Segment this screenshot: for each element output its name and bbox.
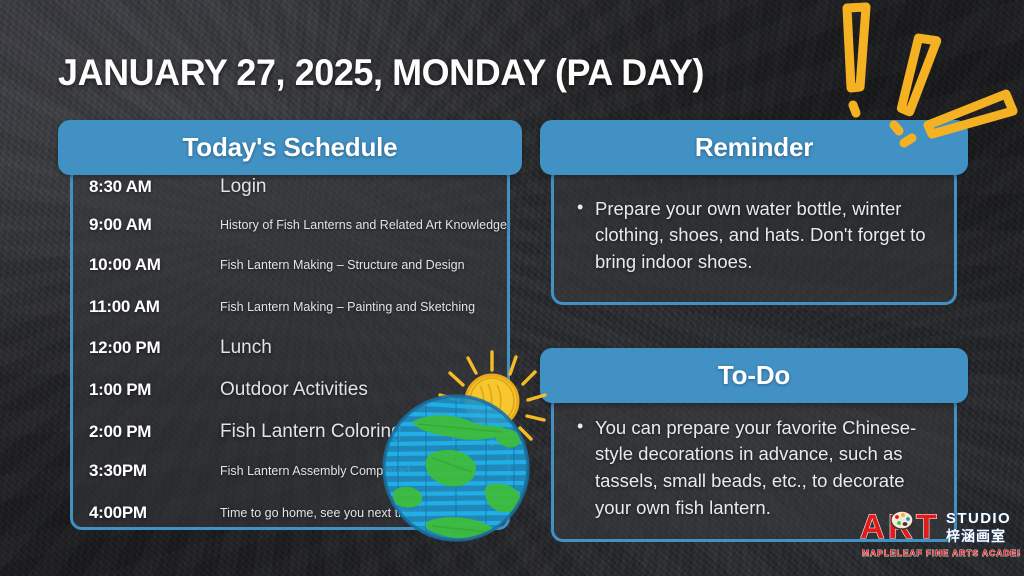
schedule-row-time: 10:00 AM xyxy=(70,255,220,275)
schedule-row-description: Fish Lantern Making – Painting and Sketc… xyxy=(220,300,510,315)
earth-and-sun-doodle xyxy=(368,338,568,560)
reminder-list: Prepare your own water bottle, winter cl… xyxy=(551,166,957,305)
schedule-row-time: 3:30PM xyxy=(70,461,220,481)
logo-letter-a: A xyxy=(860,508,885,546)
schedule-row: 10:00 AMFish Lantern Making – Structure … xyxy=(70,255,510,275)
slide-canvas: JANUARY 27, 2025, MONDAY (PA DAY) Today'… xyxy=(0,0,1024,576)
schedule-row: 8:30 AMLogin xyxy=(70,176,510,198)
logo-studio-text: STUDIO xyxy=(946,510,1011,527)
schedule-row-description: Login xyxy=(220,176,510,198)
schedule-row-description: History of Fish Lanterns and Related Art… xyxy=(220,218,510,233)
schedule-row-time: 4:00PM xyxy=(70,503,220,523)
schedule-heading-text: Today's Schedule xyxy=(183,132,398,163)
schedule-row-time: 9:00 AM xyxy=(70,215,220,235)
schedule-row: 11:00 AMFish Lantern Making – Painting a… xyxy=(70,297,510,317)
page-title: JANUARY 27, 2025, MONDAY (PA DAY) xyxy=(58,52,704,94)
earth-globe xyxy=(384,396,528,540)
logo: A R T STUDIO 梓涵画室 MAPLELEAF FINE ARTS AC… xyxy=(858,500,1020,564)
reminder-heading-text: Reminder xyxy=(695,132,813,163)
schedule-row-time: 2:00 PM xyxy=(70,422,220,442)
reminder-bullet-list: Prepare your own water bottle, winter cl… xyxy=(551,196,957,276)
schedule-row-description: Fish Lantern Making – Structure and Desi… xyxy=(220,258,510,273)
todo-heading-text: To-Do xyxy=(718,360,790,391)
logo-tagline-text: MAPLELEAF FINE ARTS ACADEMY xyxy=(862,548,1020,558)
list-item: Prepare your own water bottle, winter cl… xyxy=(577,196,939,276)
exclamation-marks-decoration xyxy=(820,0,1024,164)
logo-chinese-text: 梓涵画室 xyxy=(946,528,1006,545)
logo-letter-t: T xyxy=(916,508,937,546)
schedule-row-time: 8:30 AM xyxy=(70,177,220,197)
palette-icon xyxy=(891,511,913,529)
schedule-row-time: 1:00 PM xyxy=(70,380,220,400)
schedule-row-time: 12:00 PM xyxy=(70,338,220,358)
schedule-row-time: 11:00 AM xyxy=(70,297,220,317)
schedule-row: 9:00 AMHistory of Fish Lanterns and Rela… xyxy=(70,215,510,235)
